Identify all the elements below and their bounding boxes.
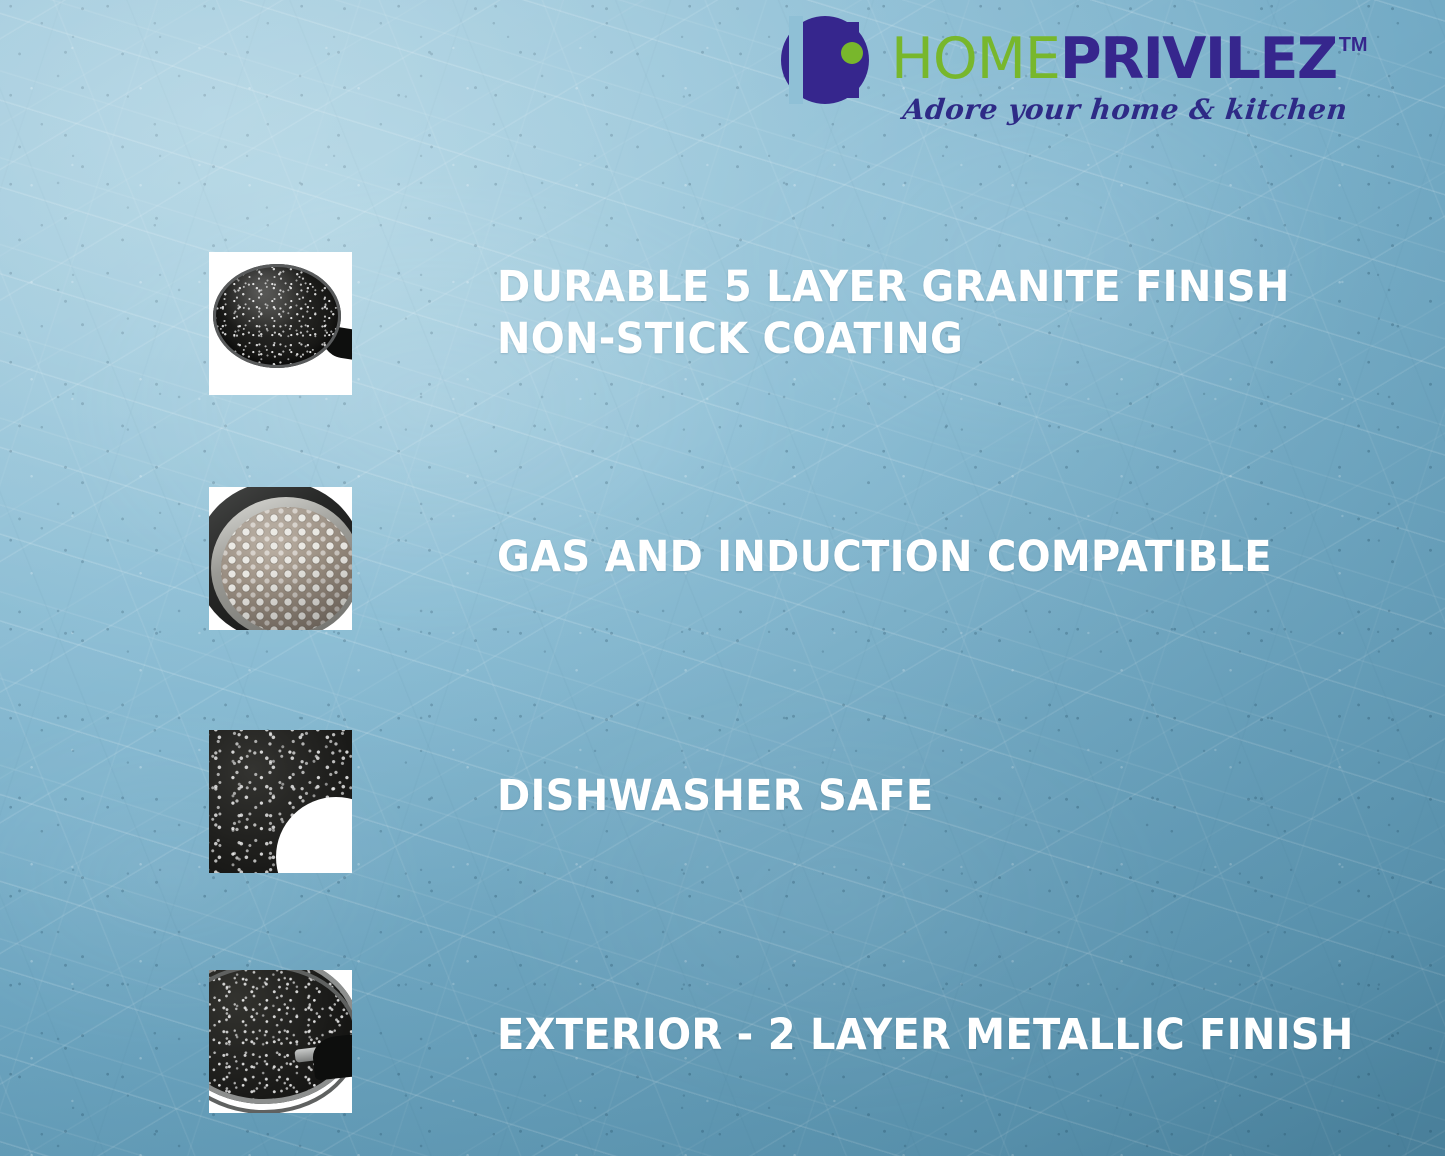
feature-label-dishwasher-safe: DISHWASHER SAFE [497, 770, 933, 822]
induction-base-dimpled-icon [209, 487, 352, 630]
frying-pan-interior-granite-icon [209, 252, 352, 395]
h-monogram-circle-icon [781, 12, 885, 108]
feature-row-gas-induction-compatible: GAS AND INDUCTION COMPATIBLE [0, 487, 1445, 632]
trademark-symbol: TM [1339, 35, 1368, 55]
feature-label-durable-granite-coating: DURABLE 5 LAYER GRANITE FINISH NON-STICK… [497, 261, 1290, 365]
brand-logo: HOMEPRIVILEZTM Adore your home & kitchen [781, 22, 1301, 130]
brand-name-home: HOME [891, 31, 1060, 88]
feature-label-gas-induction-compatible: GAS AND INDUCTION COMPATIBLE [497, 531, 1272, 583]
brand-name-privilez: PRIVILEZ [1060, 31, 1337, 88]
feature-row-exterior-metallic-finish: EXTERIOR - 2 LAYER METALLIC FINISH [0, 970, 1445, 1120]
infographic-canvas: HOMEPRIVILEZTM Adore your home & kitchen… [0, 0, 1445, 1156]
feature-label-exterior-metallic-finish: EXTERIOR - 2 LAYER METALLIC FINISH [497, 1009, 1354, 1061]
granite-surface-macro-icon [209, 730, 352, 873]
pan-rim-handle-metallic-icon [209, 970, 352, 1113]
feature-row-durable-granite-coating: DURABLE 5 LAYER GRANITE FINISH NON-STICK… [0, 252, 1445, 402]
brand-tagline: Adore your home & kitchen [902, 96, 1305, 124]
feature-row-dishwasher-safe: DISHWASHER SAFE [0, 730, 1445, 875]
green-dot-icon [841, 42, 863, 64]
